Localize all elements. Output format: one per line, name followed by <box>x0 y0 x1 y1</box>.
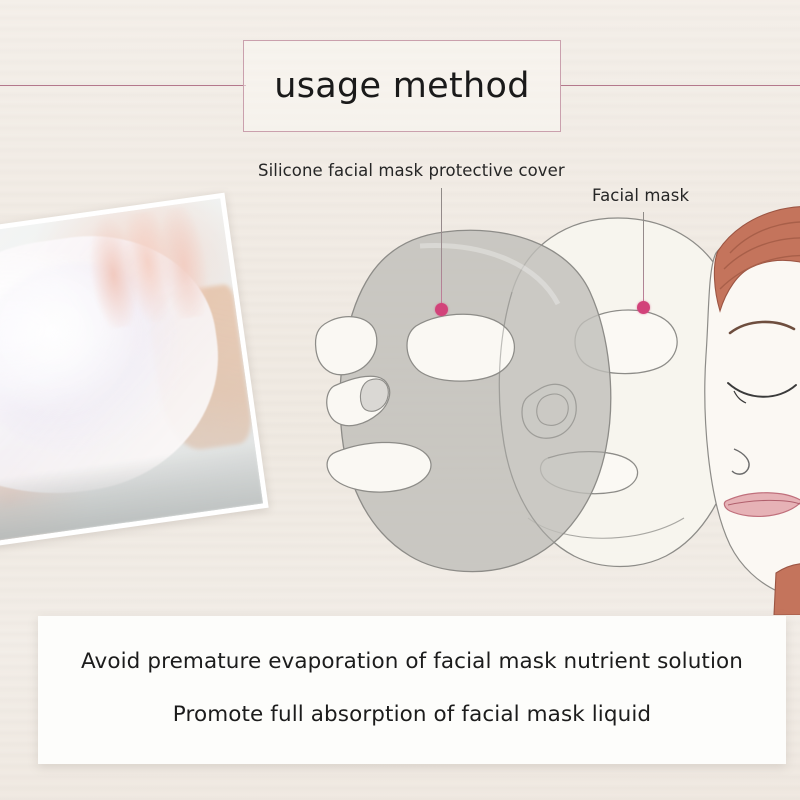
callout-label-silicone-cover: Silicone facial mask protective cover <box>258 161 565 180</box>
title-rule-left <box>0 85 246 86</box>
hand-holding-silicone-mask-photo <box>0 193 269 550</box>
callout-label-facial-mask: Facial mask <box>592 186 689 205</box>
photo-haze-overlay <box>0 198 263 543</box>
woman-face-illustration <box>690 205 800 615</box>
leader-dot-silicone-cover <box>435 303 448 316</box>
page-title: usage method <box>243 40 561 132</box>
photo-content <box>0 198 263 543</box>
benefit-line-2: Promote full absorption of facial mask l… <box>38 702 786 727</box>
benefit-line-1: Avoid premature evaporation of facial ma… <box>38 649 786 674</box>
leader-line-silicone-cover <box>441 188 442 308</box>
title-rule-right <box>560 85 800 86</box>
leader-dot-facial-mask <box>637 301 650 314</box>
product-infographic-canvas: usage method <box>0 0 800 800</box>
benefits-panel: Avoid premature evaporation of facial ma… <box>38 616 786 764</box>
leader-line-facial-mask <box>643 212 644 308</box>
